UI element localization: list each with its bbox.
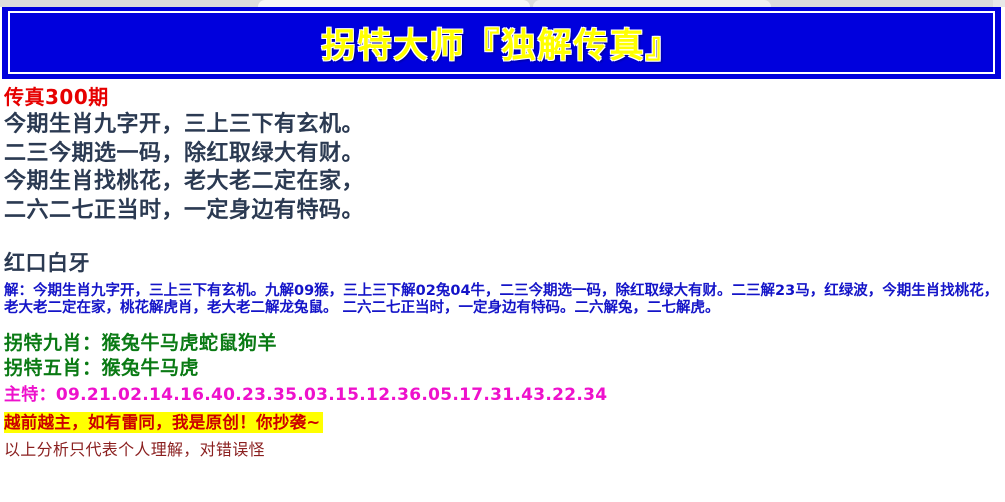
browser-tab-inactive[interactable] xyxy=(533,0,771,7)
verse-line-1: 今期生肖九字开，三上三下有玄机。 xyxy=(4,111,1004,140)
verse-line-2: 二三今期选一码，除红取绿大有财。 xyxy=(4,140,1004,169)
content-area: 传真300期 今期生肖九字开，三上三下有玄机。 二三今期选一码，除红取绿大有财。… xyxy=(4,84,1004,461)
original-claim-banner: 越前越主，如有雷同，我是原创！你抄袭~ xyxy=(4,412,323,433)
main-numbers-line: 主特：09.21.02.14.16.40.23.35.03.15.12.36.0… xyxy=(4,384,1004,407)
main-numbers-label: 主特 xyxy=(4,385,39,405)
nine-zodiac-line: 拐特九肖：猴兔牛马虎蛇鼠狗羊 xyxy=(4,331,1004,356)
five-zodiac-line: 拐特五肖：猴兔牛马虎 xyxy=(4,356,1004,381)
page-title: 拐特大师『独解传真』 xyxy=(10,13,993,72)
verse-line-3: 今期生肖找桃花，老大老二定在家， xyxy=(4,168,1004,197)
banner-inner-frame: 拐特大师『独解传真』 xyxy=(8,11,995,74)
browser-tab-active[interactable] xyxy=(258,0,530,7)
spacer xyxy=(4,317,1004,331)
browser-chrome-strip xyxy=(0,0,1005,7)
section-heading: 红口白牙 xyxy=(4,249,1004,277)
browser-chrome-right-pad xyxy=(993,0,1005,7)
highlight-row: 越前越主，如有雷同，我是原创！你抄袭~ xyxy=(4,407,1004,433)
verse-line-4: 二六二七正当时，一定身边有特码。 xyxy=(4,197,1004,226)
explanation-paragraph: 解：今期生肖九字开，三上三下有玄机。九解09猴，三上三下解02兔04牛，二三今期… xyxy=(4,283,1002,317)
issue-heading: 传真300期 xyxy=(4,84,1004,110)
main-numbers-value: ：09.21.02.14.16.40.23.35.03.15.12.36.05.… xyxy=(39,385,608,405)
page-banner: 拐特大师『独解传真』 xyxy=(2,7,1001,79)
disclaimer-line: 以上分析只代表个人理解，对错误怪 xyxy=(4,439,1004,461)
spacer xyxy=(4,225,1004,249)
